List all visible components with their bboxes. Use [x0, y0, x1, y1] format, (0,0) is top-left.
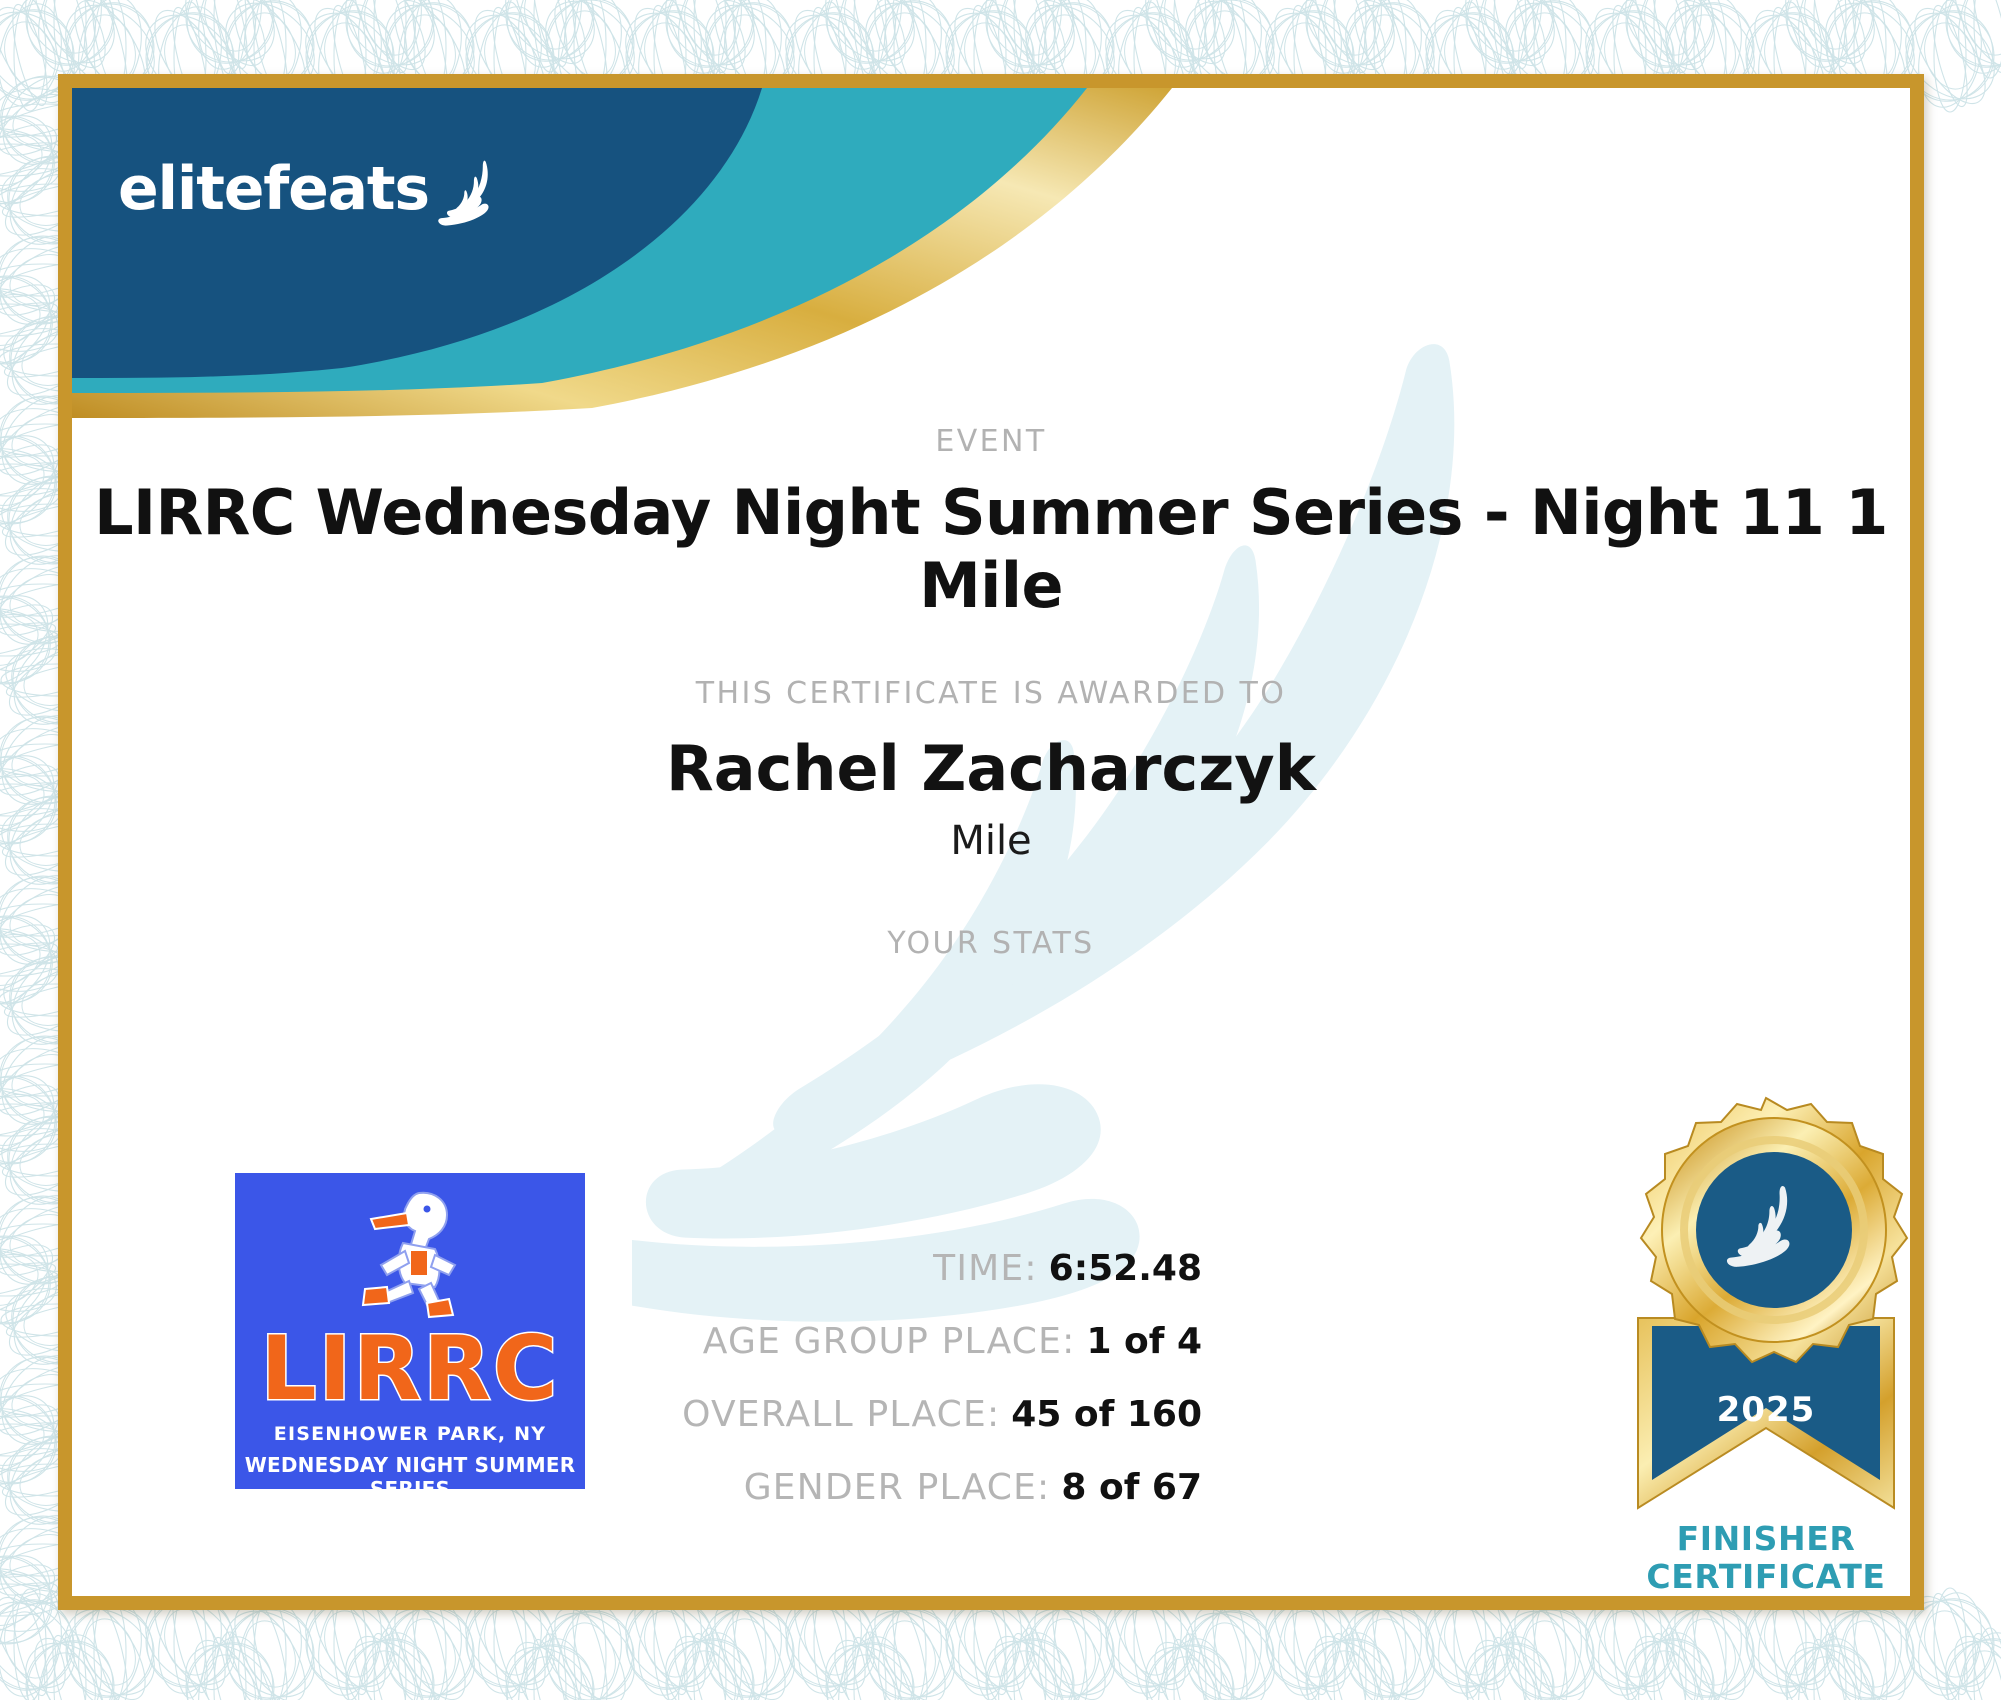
awarded-to-label: THIS CERTIFICATE IS AWARDED TO — [72, 676, 1910, 711]
stat-label-age-group-place: AGE GROUP PLACE: — [703, 1321, 1076, 1362]
stat-row: AGE GROUP PLACE: 1 of 4 — [72, 1321, 1202, 1394]
certificate-frame: elitefeats EVENT LIRRC Wednesday Night S… — [58, 74, 1924, 1610]
stat-value-time: 6:52.48 — [1049, 1248, 1202, 1289]
stat-value-age-group-place: 1 of 4 — [1086, 1321, 1202, 1362]
division-name: Mile — [72, 818, 1910, 864]
stat-row: GENDER PLACE: 8 of 67 — [72, 1467, 1202, 1540]
event-label: EVENT — [72, 424, 1910, 459]
stat-value-gender-place: 8 of 67 — [1061, 1467, 1202, 1508]
stats-list: TIME: 6:52.48 AGE GROUP PLACE: 1 of 4 OV… — [72, 1248, 1202, 1540]
stat-label-gender-place: GENDER PLACE: — [744, 1467, 1051, 1508]
certificate-body: EVENT LIRRC Wednesday Night Summer Serie… — [72, 88, 1910, 1596]
stat-row: TIME: 6:52.48 — [72, 1248, 1202, 1321]
stat-label-time: TIME: — [933, 1248, 1038, 1289]
your-stats-label: YOUR STATS — [72, 926, 1910, 961]
event-title: LIRRC Wednesday Night Summer Series - Ni… — [72, 476, 1910, 622]
stat-row: OVERALL PLACE: 45 of 160 — [72, 1394, 1202, 1467]
stat-value-overall-place: 45 of 160 — [1011, 1394, 1202, 1435]
certificate-page: elitefeats EVENT LIRRC Wednesday Night S… — [0, 0, 2001, 1700]
stat-label-overall-place: OVERALL PLACE: — [682, 1394, 1000, 1435]
recipient-name: Rachel Zacharczyk — [72, 732, 1910, 805]
